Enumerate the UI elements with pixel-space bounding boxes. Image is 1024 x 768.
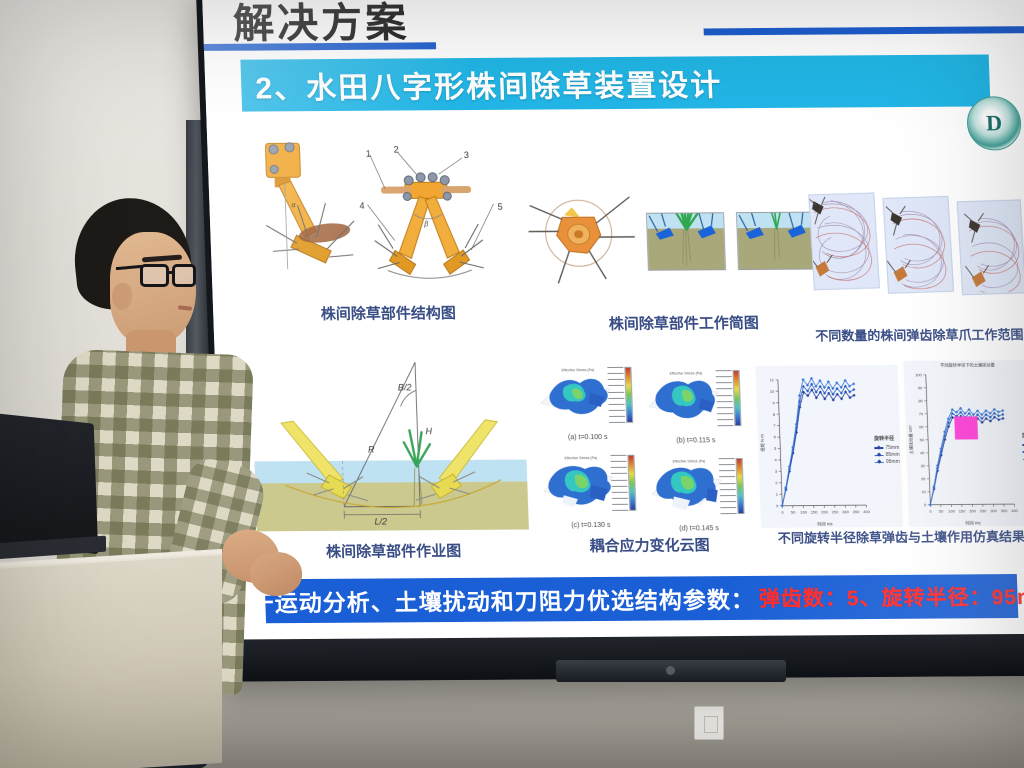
screenshot-stage: 解决方案 2、水田八字形株间除草装置设计 D [0,0,1024,768]
svg-text:0: 0 [776,503,779,508]
fea-colorbar-ticks-b [714,370,734,426]
working-schematic-figure [526,170,826,302]
svg-text:20: 20 [921,476,926,481]
slide: 解决方案 2、水田八字形株间除草装置设计 D [202,0,1024,642]
geo-label-base: L/2 [374,516,387,526]
svg-text:6: 6 [774,434,777,439]
legend-marker-icon [875,462,884,464]
svg-text:11: 11 [770,377,775,382]
geo-label-radius: R [368,445,375,455]
svg-text:40: 40 [920,450,925,455]
fea-subcaption-d: (d) t=0.145 s [647,525,751,533]
section-title-band: 2、水田八字形株间除草装置设计 [240,54,990,111]
fea-cell-d: Effective Stress (Pa) (d) t=0.145 s [644,450,751,531]
geo-label-angle: B/2 [398,382,412,392]
torque-line-chart: 05010015020025030035040001234567891011时间… [755,365,903,528]
figure-caption-5: 耦合应力变化云图 [539,534,760,557]
svg-text:7: 7 [773,423,776,428]
chart-highlight-region [955,416,979,440]
svg-text:100: 100 [800,510,808,515]
fea-subcaption-c: (c) t=0.130 s [539,522,643,530]
svg-text:400: 400 [863,509,871,514]
screen-surface: 解决方案 2、水田八字形株间除草装置设计 D [202,0,1024,642]
callout-number: 1 [366,149,371,159]
fea-cell-a: Effective Stress (Pa) (a) t=0.100 s [533,359,640,440]
trajectory-panel-1 [808,192,880,290]
slide-content: α [206,112,1024,532]
figure-caption-1: 株间除草部件结构图 [233,301,544,324]
rotary-head-svg [527,179,642,308]
mechanism-svg: α [247,138,523,298]
trajectory-svg-1 [809,193,878,288]
soil-block-a-svg [647,213,727,272]
svg-text:100: 100 [915,372,923,377]
fea-subcaption-a: (a) t=0.100 s [536,434,640,442]
svg-text:8: 8 [773,412,776,417]
callout-number: 3 [464,150,469,160]
geometry-svg: B/2 H R L/2 [247,356,533,538]
svg-text:扭矩 N·m: 扭矩 N·m [759,434,767,452]
svg-text:10: 10 [921,489,926,494]
svg-text:不同旋转半径下的土壤扰动量: 不同旋转半径下的土壤扰动量 [940,361,995,368]
legend-label: 95mm [886,459,900,466]
svg-text:60: 60 [919,424,924,429]
figure-caption-2: 株间除草部件工作简图 [533,311,834,334]
svg-text:0: 0 [929,509,932,514]
laptop[interactable] [0,412,98,554]
fea-cell-c: Effective Stress (Pa) (c) t=0.130 s [536,447,643,528]
svg-text:400: 400 [1011,508,1019,513]
legend-label: 75mm [885,444,899,451]
svg-text:Effective Stress (Pa): Effective Stress (Pa) [564,456,597,460]
svg-text:300: 300 [842,509,850,514]
legend-item: 95mm [875,459,900,466]
svg-text:β: β [423,221,428,228]
legend-marker-icon [874,447,883,449]
legend-marker-icon [875,455,884,457]
svg-text:0: 0 [924,502,927,507]
svg-text:250: 250 [980,508,988,513]
simulation-charts-figure: 05010015020025030035040001234567891011时间… [755,360,1024,532]
mechanism-structure-figure: α [247,138,523,298]
soil-block-b-svg [737,213,817,272]
presenter-ear [112,283,132,310]
svg-text:200: 200 [969,508,977,513]
trajectory-panel-2 [882,196,954,294]
conclusion-banner: 基于运动分析、土壤扰动和刀阻力优选结构参数： 弹齿数：5、旋转半径：95mm [265,574,1019,623]
svg-text:70: 70 [919,411,924,416]
conclusion-text: 基于运动分析、土壤扰动和刀阻力优选结构参数： [226,581,755,619]
svg-text:350: 350 [1001,508,1009,513]
svg-text:100: 100 [948,509,956,514]
soil-block-with-plant [646,212,726,271]
fea-colorbar-ticks-c [608,455,628,511]
legend-label: 85mm [886,452,900,459]
svg-text:10: 10 [770,389,775,394]
soil-disturbance-line-chart: 0501001502002503003504000102030405060708… [903,360,1024,527]
svg-text:4: 4 [774,457,777,462]
callout-number: 2 [393,145,398,155]
geo-label-height: H [425,426,432,436]
lectern [0,553,222,768]
fea-colorbar-ticks-a [605,367,625,423]
presentation-screen[interactable]: 解决方案 2、水田八字形株间除草装置设计 D [196,0,1024,682]
fea-subcaption-b: (b) t=0.115 s [644,437,748,445]
svg-text:30: 30 [920,463,925,468]
svg-text:50: 50 [939,509,944,514]
svg-text:3: 3 [775,469,778,474]
svg-text:150: 150 [959,508,967,513]
trajectory-panel-3 [957,199,1024,295]
figure-caption-3: 不同数量的株间弹齿除草爪工作范围 [790,324,1024,345]
svg-text:80: 80 [918,398,923,403]
slide-heading: 解决方案 [232,0,410,50]
svg-text:2: 2 [775,480,778,485]
glasses-lens-left [140,264,169,287]
soundbar [556,660,786,682]
trajectory-svg-2 [884,197,953,292]
svg-text:50: 50 [920,437,925,442]
wall-socket [694,706,724,740]
svg-text:300: 300 [990,508,998,513]
operation-geometry-figure: B/2 H R L/2 [247,356,533,538]
soil-block-after [736,212,816,271]
callout-number: 4 [359,201,364,211]
trajectory-svg-3 [958,200,1024,293]
conclusion-emphasis: 弹齿数：5、旋转半径：95mm [758,581,1024,613]
soil-disturbance-chart-svg: 0501001502002503003504000102030405060708… [903,360,1024,527]
fea-stress-cloud-figure: Effective Stress (Pa) (a) t=0.100 s [533,358,751,529]
trajectory-range-figure [809,186,1024,295]
svg-text:90: 90 [918,385,923,390]
svg-text:土壤扰动量 cm³: 土壤扰动量 cm³ [907,425,915,455]
section-title-text: 2、水田八字形株间除草装置设计 [255,60,723,107]
svg-text:Effective Stress (Pa): Effective Stress (Pa) [670,371,703,375]
glasses-lens-right [172,264,196,287]
svg-text:50: 50 [791,510,796,515]
svg-text:Effective Stress (Pa): Effective Stress (Pa) [561,368,594,372]
svg-text:Effective Stress (Pa): Effective Stress (Pa) [673,459,706,463]
fea-colorbar-ticks-d [717,458,737,514]
svg-text:5: 5 [774,446,777,451]
legend-title: 旋转半径 [874,436,899,443]
svg-text:200: 200 [821,509,829,514]
svg-text:350: 350 [853,509,861,514]
svg-text:250: 250 [832,509,840,514]
svg-text:1: 1 [776,492,779,497]
heading-rule-right [704,26,1024,35]
svg-text:9: 9 [772,400,775,405]
figure-caption-6: 不同旋转半径除草弹齿与土壤作用仿真结果 [751,526,1024,547]
callout-number: 5 [498,202,503,212]
svg-text:150: 150 [811,509,819,514]
fea-cell-b: Effective Stress (Pa) (b) t=0.115 s [641,362,748,443]
torque-chart-legend: 旋转半径75mm85mm95mm [874,436,900,466]
svg-text:0: 0 [781,510,784,515]
